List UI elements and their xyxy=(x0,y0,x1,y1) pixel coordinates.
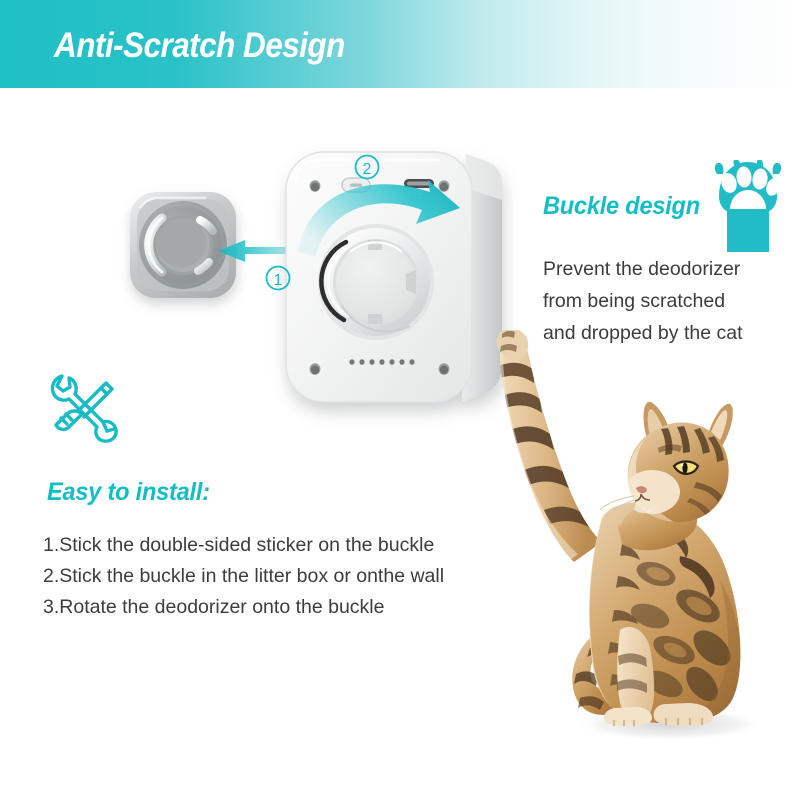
header-banner: Anti-Scratch Design xyxy=(0,0,800,88)
buckle-body-line: Prevent the deodorizer xyxy=(543,253,795,285)
buckle-body-line: from being scratched xyxy=(543,285,795,317)
cat-eye xyxy=(674,462,698,474)
easy-to-install-heading: Easy to install: xyxy=(47,478,210,507)
tools-icon xyxy=(45,369,123,447)
page-title: Anti-Scratch Design xyxy=(54,26,345,66)
install-step: 3.Rotate the deodorizer onto the buckle xyxy=(43,592,513,623)
buckle-bracket xyxy=(130,192,236,298)
paw-icon xyxy=(711,160,785,252)
cat-raised-leg xyxy=(497,330,603,562)
svg-text:1: 1 xyxy=(274,272,283,289)
cat-rear-paw xyxy=(654,703,713,726)
cat-head xyxy=(600,402,733,550)
install-step: 2.Stick the buckle in the litter box or … xyxy=(43,561,513,592)
svg-text:2: 2 xyxy=(363,161,372,178)
install-steps-list: 1.Stick the double-sided sticker on the … xyxy=(43,530,513,623)
twist-lock-ring xyxy=(318,224,434,340)
buckle-body-line: and dropped by the cat xyxy=(543,317,795,349)
buckle-design-body: Prevent the deodorizer from being scratc… xyxy=(543,253,795,349)
infographic-page: Anti-Scratch Design xyxy=(0,0,800,800)
cat-illustration xyxy=(470,330,800,750)
buckle-design-heading: Buckle design xyxy=(543,192,700,221)
install-step: 1.Stick the double-sided sticker on the … xyxy=(43,530,513,561)
